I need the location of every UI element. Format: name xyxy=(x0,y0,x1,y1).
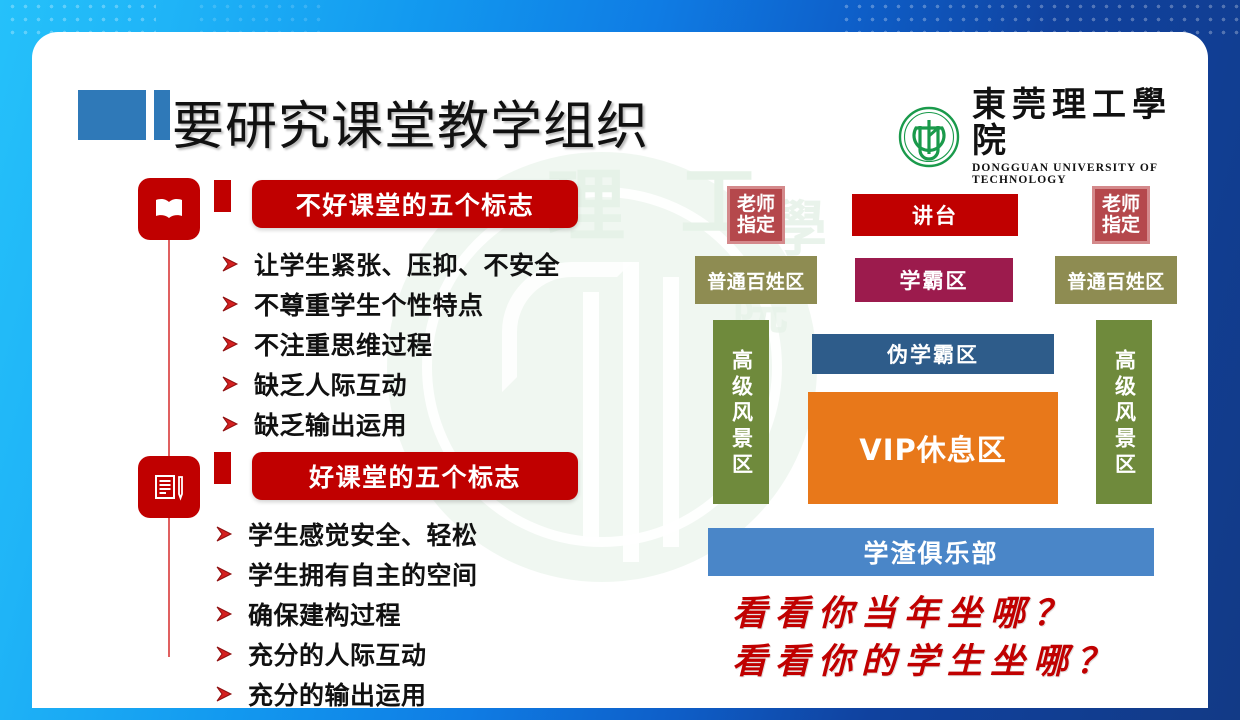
arrow-bullet-icon xyxy=(220,254,240,274)
watermark-seal-bars xyxy=(577,262,727,562)
section-tick-1 xyxy=(214,180,231,212)
zone-scenic-right: 高级风景区 xyxy=(1096,320,1152,504)
list-item: 充分的人际互动 xyxy=(214,634,478,674)
university-seal-icon xyxy=(898,106,960,168)
arrow-bullet-icon xyxy=(214,684,234,704)
list-item: 确保建构过程 xyxy=(214,594,478,634)
section-pill-good: 好课堂的五个标志 xyxy=(252,452,578,500)
arrow-bullet-icon xyxy=(220,374,240,394)
list-item: 不注重思维过程 xyxy=(220,324,560,364)
arrow-bullet-icon xyxy=(220,414,240,434)
zone-vip-lounge: VIP休息区 xyxy=(808,392,1058,504)
list-item-label: 确保建构过程 xyxy=(248,596,401,632)
logo-name-en: DONGGUAN UNIVERSITY OF TECHNOLOGY xyxy=(972,162,1208,186)
title-accent-bar xyxy=(154,90,170,140)
section-pill-bad: 不好课堂的五个标志 xyxy=(252,180,578,228)
closing-question-line-1: 看看你当年坐哪？ xyxy=(732,590,1119,638)
document-pencil-icon xyxy=(138,456,200,518)
arrow-bullet-icon xyxy=(214,564,234,584)
list-item-label: 缺乏人际互动 xyxy=(254,366,407,402)
list-item: 不尊重学生个性特点 xyxy=(220,284,560,324)
arrow-bullet-icon xyxy=(220,294,240,314)
closing-question-line-2: 看看你的学生坐哪？ xyxy=(732,638,1119,686)
arrow-bullet-icon xyxy=(220,334,240,354)
university-logo: 東莞理工學院 DONGGUAN UNIVERSITY OF TECHNOLOGY xyxy=(898,88,1208,186)
list-item: 学生拥有自主的空间 xyxy=(214,554,478,594)
list-item-label: 充分的输出运用 xyxy=(248,676,427,708)
zone-common-left: 普通百姓区 xyxy=(695,256,817,304)
list-item-label: 缺乏输出运用 xyxy=(254,406,407,442)
list-item-label: 学生感觉安全、轻松 xyxy=(248,516,478,552)
zone-pseudo-ace: 伪学霸区 xyxy=(812,334,1054,374)
arrow-bullet-icon xyxy=(214,524,234,544)
list-item: 缺乏输出运用 xyxy=(220,404,560,444)
section-tick-2 xyxy=(214,452,231,484)
list-item-label: 让学生紧张、压抑、不安全 xyxy=(254,246,560,282)
list-item-label: 不注重思维过程 xyxy=(254,326,433,362)
zone-club: 学渣俱乐部 xyxy=(708,528,1154,576)
bullet-list-bad: 让学生紧张、压抑、不安全 不尊重学生个性特点 不注重思维过程 缺乏人际互动 xyxy=(220,244,560,444)
zone-ace: 学霸区 xyxy=(855,258,1013,302)
list-item: 让学生紧张、压抑、不安全 xyxy=(220,244,560,284)
zone-teacher-designated-right: 老师指定 xyxy=(1092,186,1150,244)
list-item: 充分的输出运用 xyxy=(214,674,478,708)
section-connector-line xyxy=(168,237,170,657)
title-accent-block xyxy=(78,90,146,140)
open-book-icon xyxy=(138,178,200,240)
page-title: 要研究课堂教学组织 xyxy=(172,84,649,159)
logo-name-cn: 東莞理工學院 xyxy=(972,88,1208,159)
list-item-label: 充分的人际互动 xyxy=(248,636,427,672)
bullet-list-good: 学生感觉安全、轻松 学生拥有自主的空间 确保建构过程 充分的人际互动 xyxy=(214,514,478,708)
closing-question: 看看你当年坐哪？ 看看你的学生坐哪？ xyxy=(732,590,1119,687)
list-item: 缺乏人际互动 xyxy=(220,364,560,404)
zone-common-right: 普通百姓区 xyxy=(1055,256,1177,304)
zone-scenic-left: 高级风景区 xyxy=(713,320,769,504)
slide-card: 理 工 學 院 要研究课堂教学组织 東莞理工學院 DONGGUAN UNIVER… xyxy=(32,32,1208,708)
zone-teacher-designated-left: 老师指定 xyxy=(727,186,785,244)
list-item-label: 学生拥有自主的空间 xyxy=(248,556,478,592)
list-item: 学生感觉安全、轻松 xyxy=(214,514,478,554)
list-item-label: 不尊重学生个性特点 xyxy=(254,286,484,322)
zone-podium: 讲台 xyxy=(852,194,1018,236)
slide-canvas: 理 工 學 院 要研究课堂教学组织 東莞理工學院 DONGGUAN UNIVER… xyxy=(0,0,1240,720)
arrow-bullet-icon xyxy=(214,644,234,664)
arrow-bullet-icon xyxy=(214,604,234,624)
